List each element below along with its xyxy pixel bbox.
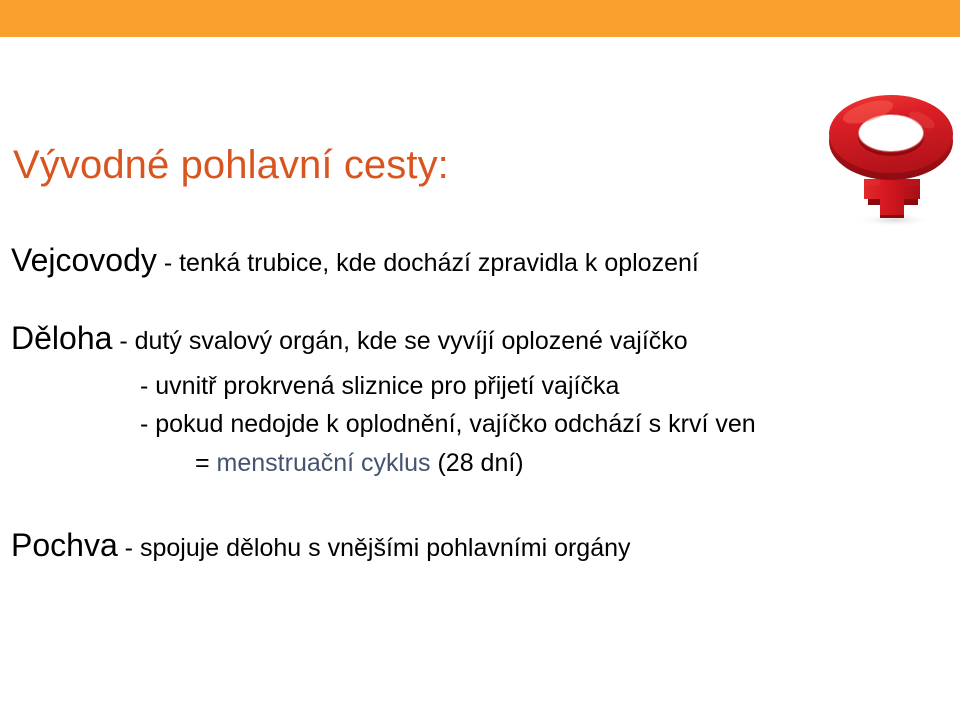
page-title: Vývodné pohlavní cesty: <box>13 142 449 188</box>
description-vejcovody: - tenká trubice, kde dochází zpravidla k… <box>157 249 699 277</box>
sub-bullet-odchod-vajicka: - pokud nedojde k oplodnění, vajíčko odc… <box>140 410 756 439</box>
term-vejcovody: Vejcovody <box>11 242 157 278</box>
bullet-line-pochva: Pochva - spojuje dělohu s vnějšími pohla… <box>11 527 631 564</box>
sub-bullet-odchod-vajicka-text: - pokud nedojde k oplodnění, vajíčko odc… <box>140 410 756 438</box>
description-deloha: - dutý svalový orgán, kde se vyvíjí oplo… <box>112 327 687 355</box>
bullet-line-deloha: Děloha - dutý svalový orgán, kde se vyví… <box>11 320 688 357</box>
sub-bullet-sliznice-text: - uvnitř prokrvená sliznice pro přijetí … <box>140 372 619 400</box>
sub-bullet-sliznice: - uvnitř prokrvená sliznice pro přijetí … <box>140 372 619 401</box>
venus-female-symbol-icon <box>822 87 960 227</box>
bullet-line-vejcovody: Vejcovody - tenká trubice, kde dochází z… <box>11 242 699 279</box>
term-pochva: Pochva <box>11 527 118 563</box>
menstruacni-cyklus-prefix: = <box>195 449 217 477</box>
description-pochva: - spojuje dělohu s vnějšími pohlavními o… <box>118 534 631 562</box>
sub-bullet-menstruacni-cyklus: = menstruační cyklus (28 dní) <box>195 449 524 478</box>
menstruacni-cyklus-highlight: menstruační cyklus <box>217 449 431 477</box>
menstruacni-cyklus-suffix: (28 dní) <box>431 449 524 477</box>
term-deloha: Děloha <box>11 320 112 356</box>
top-orange-banner <box>0 0 960 37</box>
slide-canvas: Vývodné pohlavní cesty: Vejcovody - tenk… <box>0 37 960 720</box>
